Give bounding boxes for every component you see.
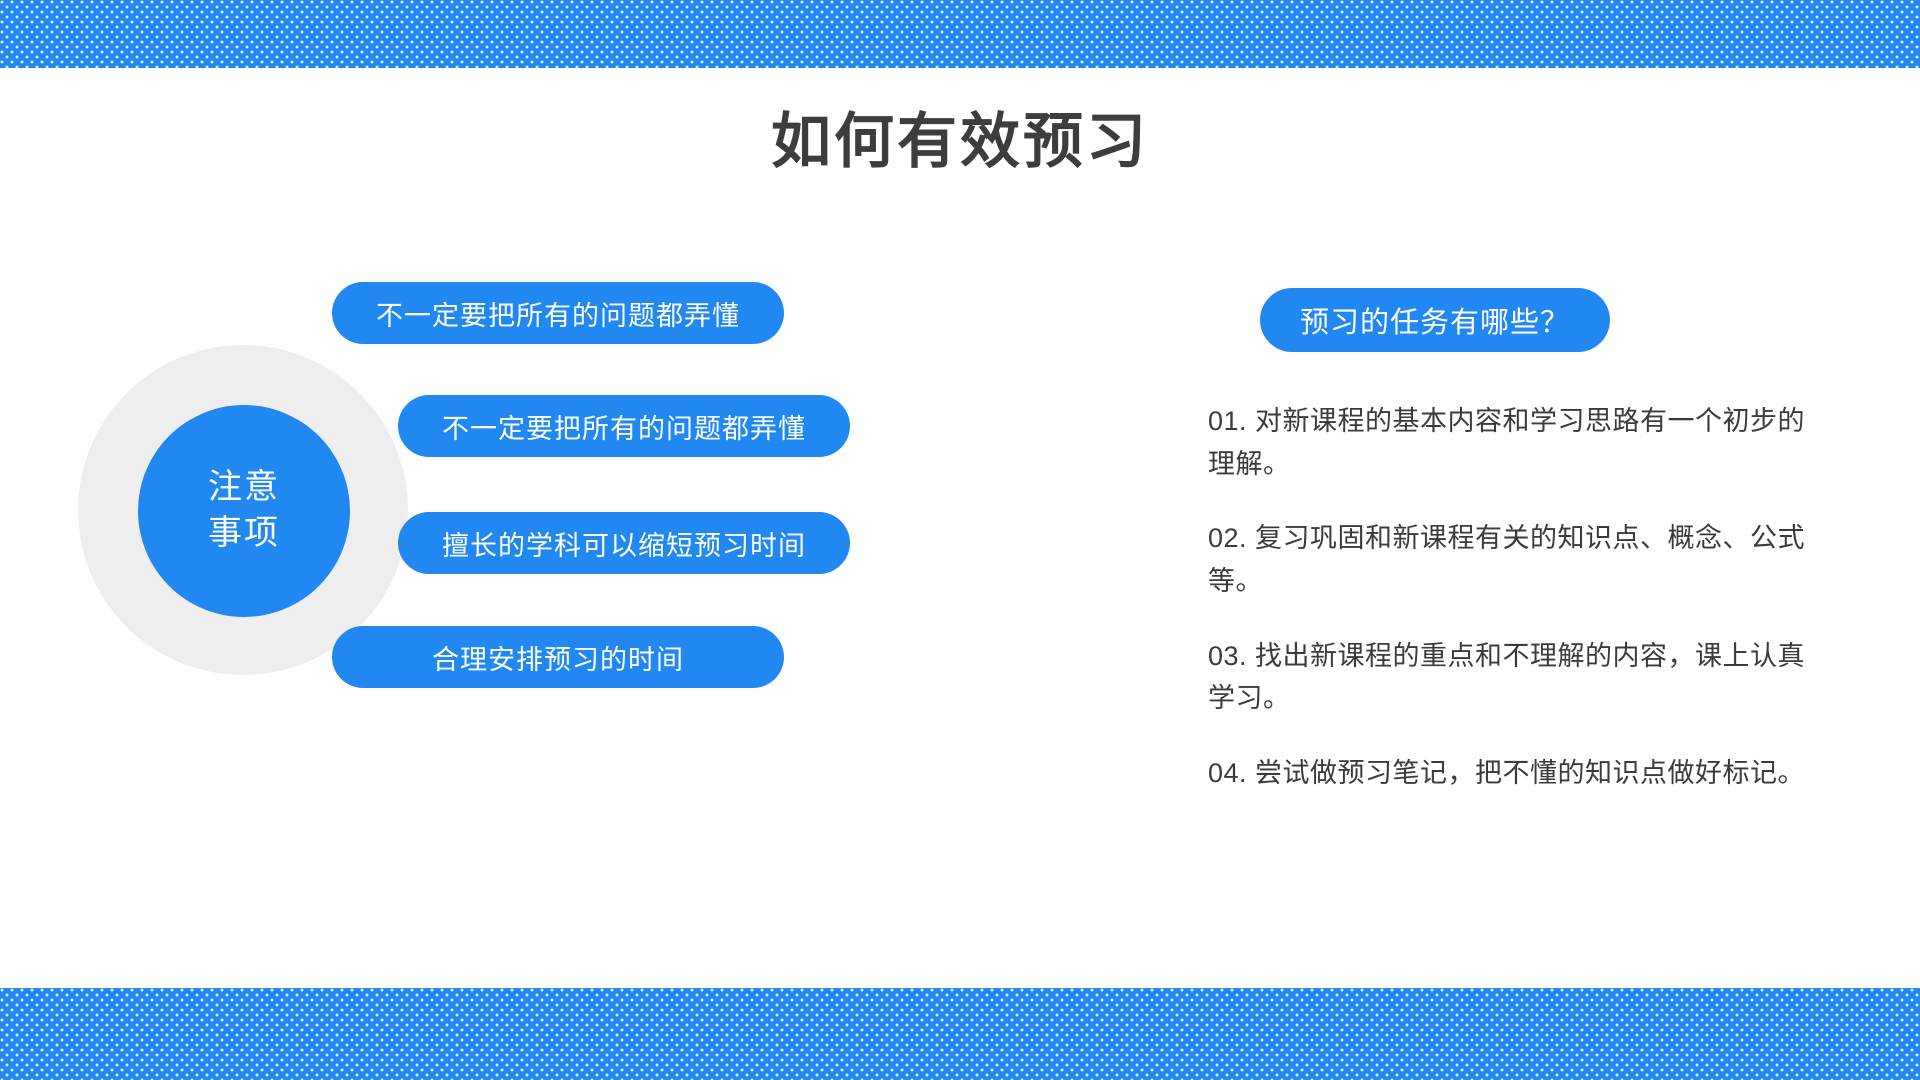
note-pill-1-label: 不一定要把所有的问题都弄懂 [376,294,740,333]
note-pill-3-label: 擅长的学科可以缩短预习时间 [442,524,806,563]
task-item-number: 03. [1208,641,1247,671]
right-panel: 预习的任务有哪些？ 01. 对新课程的基本内容和学习思路有一个初步的理解。 02… [1208,288,1828,795]
task-item-number: 02. [1208,523,1247,553]
top-decorative-bar [0,0,1920,68]
circle-label-line2: 事项 [138,511,350,557]
task-item: 03. 找出新课程的重点和不理解的内容，课上认真学习。 [1208,635,1808,720]
circle-label-line1: 注意 [138,465,350,511]
page-title: 如何有效预习 [0,106,1920,178]
task-item-number: 01. [1208,406,1247,436]
circle-label: 注意 事项 [138,465,350,557]
task-item-text: 对新课程的基本内容和学习思路有一个初步的理解。 [1208,406,1805,479]
bottom-decorative-bar [0,988,1920,1080]
note-pill-2-label: 不一定要把所有的问题都弄懂 [442,407,806,446]
task-list: 01. 对新课程的基本内容和学习思路有一个初步的理解。 02. 复习巩固和新课程… [1208,400,1828,795]
task-item: 04. 尝试做预习笔记，把不懂的知识点做好标记。 [1208,752,1808,795]
note-pill-2[interactable]: 不一定要把所有的问题都弄懂 [398,395,850,457]
task-item-text: 复习巩固和新课程有关的知识点、概念、公式等。 [1208,523,1805,596]
task-item: 01. 对新课程的基本内容和学习思路有一个初步的理解。 [1208,400,1808,485]
slide-root: 如何有效预习 注意 事项 不一定要把所有的问题都弄懂 不一定要把所有的问题都弄懂… [0,0,1920,1080]
task-item-text: 尝试做预习笔记，把不懂的知识点做好标记。 [1247,758,1805,788]
left-panel: 注意 事项 不一定要把所有的问题都弄懂 不一定要把所有的问题都弄懂 擅长的学科可… [0,240,1100,880]
tasks-header-badge[interactable]: 预习的任务有哪些？ [1260,288,1610,352]
note-pill-1[interactable]: 不一定要把所有的问题都弄懂 [332,282,784,344]
note-pill-4[interactable]: 合理安排预习的时间 [332,626,784,688]
note-pill-3[interactable]: 擅长的学科可以缩短预习时间 [398,512,850,574]
circle-badge-notes[interactable]: 注意 事项 [138,405,350,617]
task-item: 02. 复习巩固和新课程有关的知识点、概念、公式等。 [1208,517,1808,602]
task-item-text: 找出新课程的重点和不理解的内容，课上认真学习。 [1208,641,1805,714]
task-item-number: 04. [1208,758,1247,788]
note-pill-4-label: 合理安排预习的时间 [432,638,684,677]
tasks-header-label: 预习的任务有哪些？ [1300,299,1570,341]
